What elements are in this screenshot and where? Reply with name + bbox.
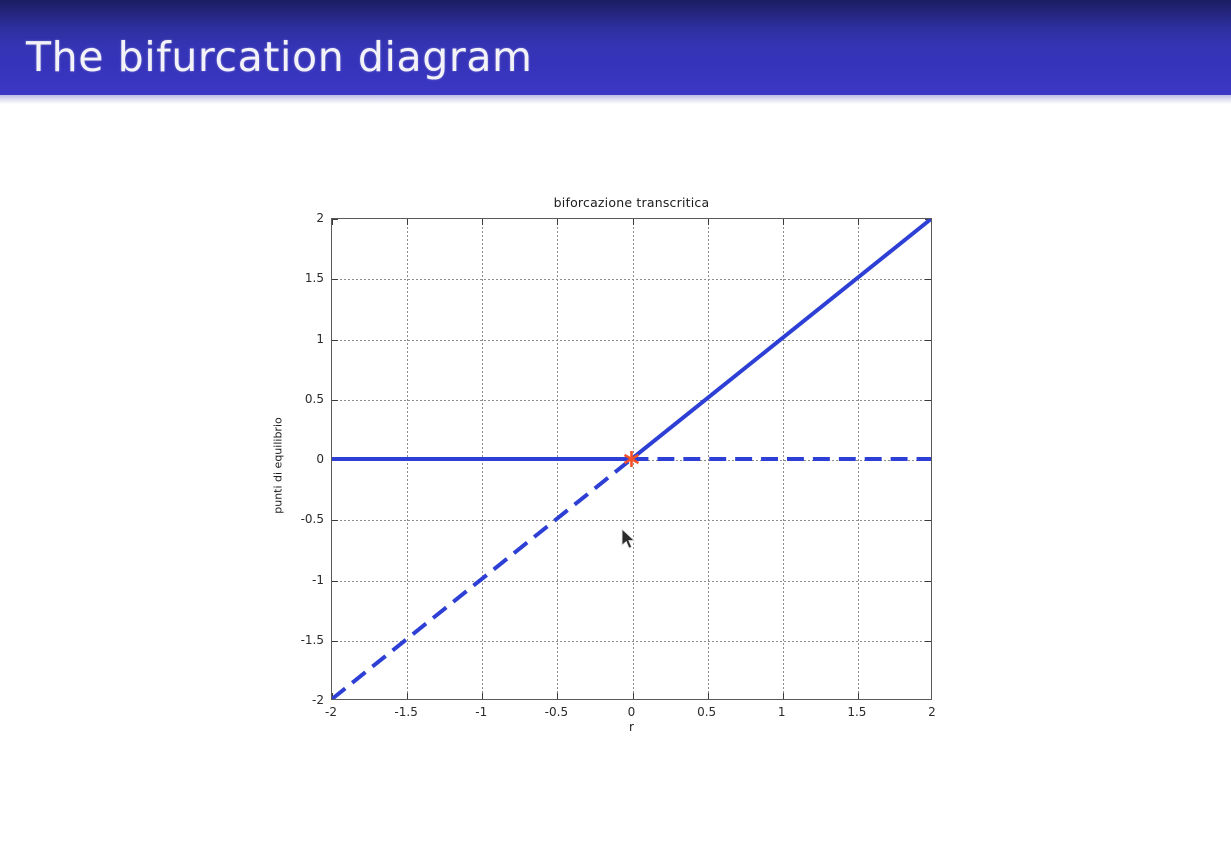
data-series-layer [332,219,931,699]
x-tick-label: -2 [325,705,337,719]
y-tick-label: 0 [246,452,324,466]
x-tick-label: 1.5 [847,705,866,719]
series-line [632,219,932,459]
y-tick-label: 0.5 [246,392,324,406]
y-tick-label: -1.5 [246,633,324,647]
y-tick-label: 1 [246,332,324,346]
y-tick-label: -0.5 [246,512,324,526]
plot-inner [332,219,931,699]
plot-area [331,218,932,700]
x-tick-label: 0.5 [697,705,716,719]
y-tick-label: 1.5 [246,271,324,285]
x-tick-label: -1.5 [394,705,417,719]
x-axis-label: r [331,720,932,734]
x-tick-label: 2 [928,705,936,719]
x-tick-label: -1 [475,705,487,719]
page-title: The bifurcation diagram [26,33,533,81]
x-tick-label: 0 [628,705,636,719]
y-tick-label: 2 [246,211,324,225]
y-tick-label: -2 [246,693,324,707]
chart-title: biforcazione transcritica [331,195,932,210]
slide-title-underline [0,95,1231,104]
series-line [332,459,632,699]
matlab-figure: biforcazione transcritica r punti di equ… [246,175,1006,745]
x-tick-label: -0.5 [545,705,568,719]
x-tick-label: 1 [778,705,786,719]
y-tick-label: -1 [246,573,324,587]
